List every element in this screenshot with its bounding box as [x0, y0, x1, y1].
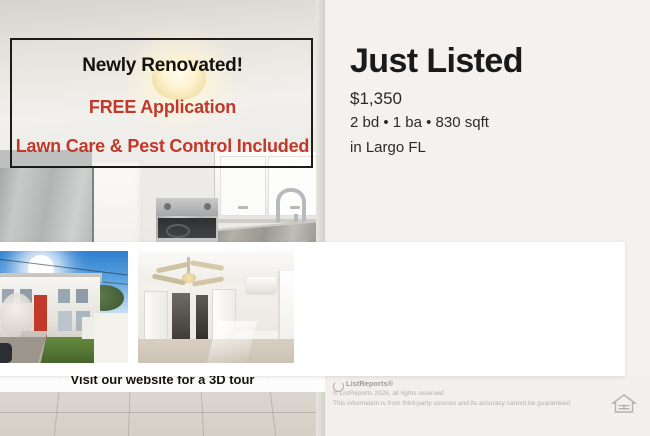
promo-offer: FREE Application: [0, 97, 325, 118]
footer: ListReports® © ListReports 2026, all rig…: [325, 376, 650, 436]
window: [278, 271, 294, 343]
listing-city: in Largo FL: [350, 139, 426, 156]
interior-door: [144, 291, 168, 345]
faucet: [276, 188, 306, 222]
promo-amenities: Lawn Care & Pest Control Included: [0, 136, 325, 157]
page-title: Just Listed: [350, 44, 523, 78]
parked-car: [0, 343, 12, 363]
mini-split-ac-unit: [246, 277, 276, 293]
equal-housing-opportunity-icon: [611, 392, 637, 416]
fan-downrod: [187, 257, 190, 273]
ceiling-fan-light-icon: [182, 273, 196, 283]
thumbnail-photo-exterior[interactable]: [0, 251, 128, 363]
closet-opening: [196, 295, 208, 339]
window: [76, 289, 88, 303]
thumbnail-photo-interior[interactable]: [138, 251, 294, 363]
tile-grout-line: [0, 412, 325, 413]
promo-headline: Newly Renovated!: [0, 55, 325, 77]
listing-price: $1,350: [350, 89, 402, 109]
listing-specs: 2 bd • 1 ba • 830 sqft: [350, 114, 489, 131]
cabinet-pull-1: [238, 206, 248, 209]
side-structure: [94, 313, 128, 363]
listing-flyer: Newly Renovated! FREE Application Lawn C…: [0, 0, 650, 436]
range-knob-right: [204, 203, 211, 210]
brand-name: ListReports®: [346, 379, 393, 388]
doorway-opening: [172, 293, 190, 341]
copyright-text: © ListReports 2026, all rights reserved: [333, 390, 444, 397]
range-burner: [166, 224, 190, 238]
disclaimer-text: This information is from third-party sou…: [333, 399, 593, 408]
window: [58, 289, 70, 303]
range-knob-left: [164, 203, 171, 210]
window: [58, 311, 72, 331]
